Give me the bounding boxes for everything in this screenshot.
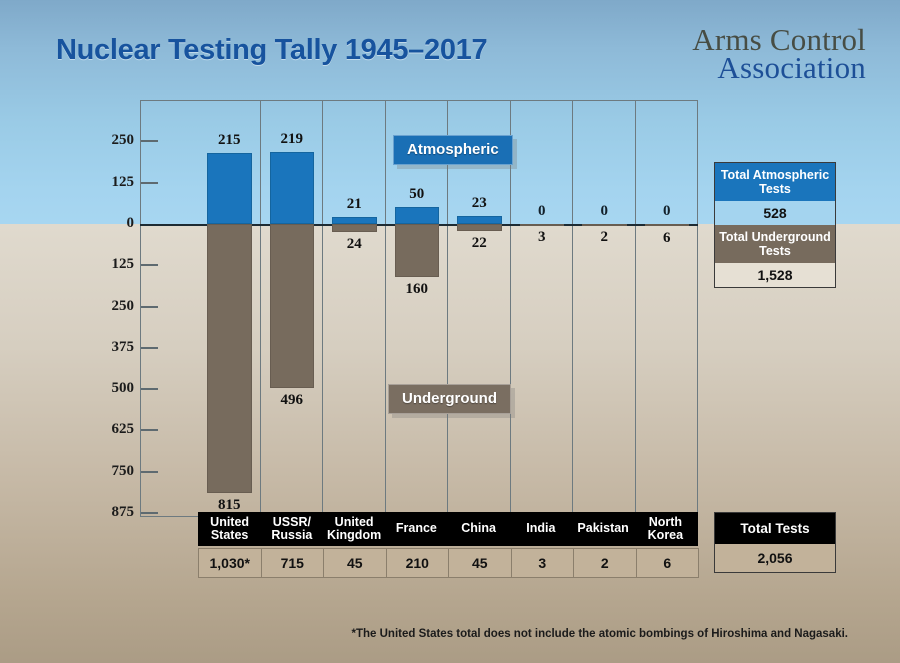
y-tick-mark-125 bbox=[141, 264, 158, 266]
total-atmospheric-title: Total Atmospheric Tests bbox=[715, 163, 835, 201]
y-tick-mark-625 bbox=[141, 429, 158, 431]
y-tick-mark-875 bbox=[141, 512, 158, 514]
country-total-3: 210 bbox=[386, 548, 450, 578]
country-total-row: 1,030*7154521045326 bbox=[198, 548, 698, 578]
country-name-2: UnitedKingdom bbox=[324, 513, 386, 545]
bar-underground-3 bbox=[395, 224, 440, 277]
y-tick-mark-250 bbox=[141, 306, 158, 308]
country-total-5: 3 bbox=[511, 548, 575, 578]
country-name-3: France bbox=[386, 513, 448, 545]
summary-legend-box: Total Atmospheric Tests 528 Total Underg… bbox=[714, 162, 836, 288]
y-tick-label-5: 375 bbox=[82, 339, 134, 356]
country-total-0: 1,030* bbox=[198, 548, 262, 578]
y-tick-mark-750 bbox=[141, 471, 158, 473]
y-tick-label-3: 125 bbox=[82, 256, 134, 273]
value-atmospheric-4: 23 bbox=[448, 195, 511, 212]
footnote: *The United States total does not includ… bbox=[352, 628, 849, 640]
total-tests-title: Total Tests bbox=[715, 513, 835, 544]
value-underground-6: 2 bbox=[573, 229, 636, 246]
total-tests-value: 2,056 bbox=[715, 544, 835, 572]
value-atmospheric-1: 219 bbox=[261, 131, 324, 148]
bar-atmospheric-1 bbox=[270, 152, 315, 224]
bar-underground-6 bbox=[582, 224, 627, 226]
bar-underground-0 bbox=[207, 224, 252, 493]
country-name-4: China bbox=[448, 513, 510, 545]
y-tick-label-0: 250 bbox=[82, 132, 134, 149]
y-tick-mark-500 bbox=[141, 388, 158, 390]
value-atmospheric-0: 215 bbox=[198, 132, 261, 149]
value-underground-5: 3 bbox=[511, 229, 574, 246]
country-total-4: 45 bbox=[448, 548, 512, 578]
y-tick-mark-125 bbox=[141, 182, 158, 184]
country-total-6: 2 bbox=[573, 548, 637, 578]
country-total-7: 6 bbox=[636, 548, 700, 578]
legend-pill-underground: Underground bbox=[388, 384, 511, 414]
country-name-7: NorthKorea bbox=[635, 513, 697, 545]
value-underground-4: 22 bbox=[448, 235, 511, 252]
country-total-1: 715 bbox=[261, 548, 325, 578]
country-totals-table: UnitedStatesUSSR/RussiaUnitedKingdomFran… bbox=[198, 512, 698, 578]
value-atmospheric-2: 21 bbox=[323, 196, 386, 213]
y-tick-label-9: 875 bbox=[82, 504, 134, 521]
value-atmospheric-3: 50 bbox=[386, 186, 449, 203]
bar-underground-2 bbox=[332, 224, 377, 232]
y-tick-label-7: 625 bbox=[82, 421, 134, 438]
y-tick-mark-375 bbox=[141, 347, 158, 349]
bar-atmospheric-3 bbox=[395, 207, 440, 224]
y-tick-label-6: 500 bbox=[82, 380, 134, 397]
value-underground-1: 496 bbox=[261, 392, 324, 409]
legend-pill-atmospheric: Atmospheric bbox=[393, 135, 513, 165]
y-tick-label-4: 250 bbox=[82, 298, 134, 315]
y-tick-label-8: 750 bbox=[82, 463, 134, 480]
total-atmospheric-value: 528 bbox=[715, 201, 835, 225]
bar-underground-4 bbox=[457, 224, 502, 231]
value-underground-7: 6 bbox=[636, 230, 699, 247]
y-tick-label-2: 0 bbox=[82, 215, 134, 232]
bar-underground-7 bbox=[645, 224, 690, 226]
country-name-1: USSR/Russia bbox=[261, 513, 323, 545]
value-atmospheric-5: 0 bbox=[511, 203, 574, 220]
value-underground-3: 160 bbox=[386, 281, 449, 298]
country-header-row: UnitedStatesUSSR/RussiaUnitedKingdomFran… bbox=[198, 512, 698, 546]
total-underground-value: 1,528 bbox=[715, 263, 835, 287]
value-atmospheric-7: 0 bbox=[636, 203, 699, 220]
bar-atmospheric-2 bbox=[332, 217, 377, 224]
bar-atmospheric-0 bbox=[207, 153, 252, 224]
bar-underground-1 bbox=[270, 224, 315, 388]
country-name-6: Pakistan bbox=[573, 513, 635, 545]
country-name-5: India bbox=[510, 513, 572, 545]
bar-underground-5 bbox=[520, 224, 565, 226]
total-underground-title: Total Underground Tests bbox=[715, 225, 835, 263]
total-tests-box: Total Tests 2,056 bbox=[714, 512, 836, 573]
country-name-0: UnitedStates bbox=[199, 513, 261, 545]
value-atmospheric-6: 0 bbox=[573, 203, 636, 220]
y-tick-label-1: 125 bbox=[82, 174, 134, 191]
bar-atmospheric-4 bbox=[457, 216, 502, 224]
value-underground-2: 24 bbox=[323, 236, 386, 253]
country-total-2: 45 bbox=[323, 548, 387, 578]
y-tick-mark-250 bbox=[141, 140, 158, 142]
